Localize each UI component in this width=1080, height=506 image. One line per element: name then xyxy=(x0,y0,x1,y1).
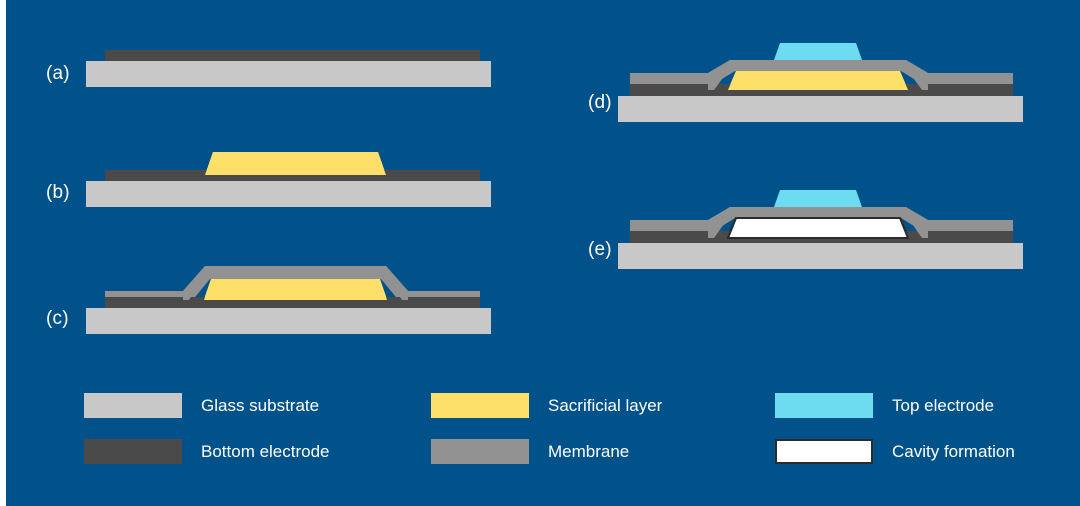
legend-swatch-glass-substrate xyxy=(84,393,182,418)
glass-substrate-layer xyxy=(618,243,1023,269)
glass-substrate-layer xyxy=(618,96,1023,122)
panel-e: (e) xyxy=(546,160,1080,290)
legend-label-sacrificial-layer: Sacrificial layer xyxy=(548,397,662,415)
legend-swatch-top-electrode xyxy=(775,393,873,418)
figure-root: (a) (b) (c) xyxy=(0,0,1080,506)
legend-label-membrane: Membrane xyxy=(548,443,629,461)
glass-substrate-layer xyxy=(86,61,491,87)
panel-d-cross-section xyxy=(546,0,1080,130)
sacrificial-layer-overlap xyxy=(204,279,387,300)
panel-e-cross-section xyxy=(546,160,1080,290)
panel-d: (d) xyxy=(546,0,1080,130)
panel-c-cross-section xyxy=(6,244,546,364)
cavity-overlap xyxy=(728,218,908,238)
legend-item-cavity-formation: Cavity formation xyxy=(775,439,1015,464)
legend-item-membrane: Membrane xyxy=(431,439,629,464)
top-electrode-shape xyxy=(774,43,862,60)
legend-label-top-electrode: Top electrode xyxy=(892,397,994,415)
sacrificial-layer-overlap xyxy=(728,71,908,90)
legend-item-glass-substrate: Glass substrate xyxy=(84,393,319,418)
figure-canvas: (a) (b) (c) xyxy=(6,0,1080,506)
glass-substrate-layer xyxy=(86,308,491,334)
legend-swatch-cavity-formation xyxy=(775,439,873,464)
legend-swatch-membrane xyxy=(431,439,529,464)
sacrificial-layer-overlap xyxy=(205,152,386,175)
panel-b: (b) xyxy=(6,120,546,240)
legend-label-cavity-formation: Cavity formation xyxy=(892,443,1015,461)
legend-label-glass-substrate: Glass substrate xyxy=(201,397,319,415)
panel-b-cross-section xyxy=(6,120,546,240)
panel-a: (a) xyxy=(6,0,546,120)
glass-substrate-layer xyxy=(86,181,491,207)
legend: Glass substrate Bottom electrode Sacrifi… xyxy=(6,380,1080,480)
legend-item-sacrificial-layer: Sacrificial layer xyxy=(431,393,662,418)
legend-swatch-bottom-electrode xyxy=(84,439,182,464)
panel-c: (c) xyxy=(6,244,546,364)
panel-a-cross-section xyxy=(6,0,546,120)
legend-item-top-electrode: Top electrode xyxy=(775,393,994,418)
legend-label-bottom-electrode: Bottom electrode xyxy=(201,443,330,461)
legend-swatch-sacrificial-layer xyxy=(431,393,529,418)
legend-item-bottom-electrode: Bottom electrode xyxy=(84,439,330,464)
bottom-electrode-layer xyxy=(105,50,480,61)
top-electrode-shape xyxy=(774,190,862,207)
